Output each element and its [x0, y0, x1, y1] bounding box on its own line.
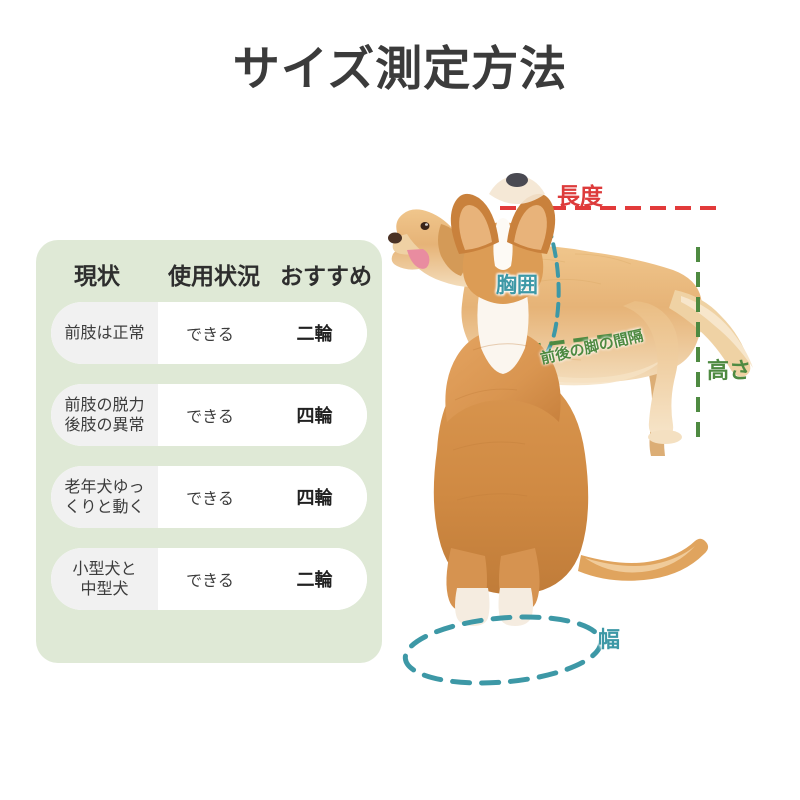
label-height: 高さ	[707, 361, 751, 383]
table-row: 前肢の脱力 後肢の異常 できる 四輪	[51, 384, 367, 446]
condition-line-1: 老年犬ゆっ	[64, 477, 144, 497]
cell-condition: 前肢の脱力 後肢の異常	[51, 384, 158, 446]
table-body: 前肢は正常 できる 二輪 前肢の脱力 後肢の異常 できる 四輪	[51, 302, 367, 630]
condition-line-1: 小型犬と	[72, 559, 136, 579]
cell-condition: 老年犬ゆっ くりと動く	[51, 466, 158, 528]
label-width: 幅	[598, 630, 620, 652]
table-row: 前肢は正常 できる 二輪	[51, 302, 367, 364]
cell-condition: 前肢は正常	[51, 302, 158, 364]
cell-usage: できる	[158, 466, 262, 528]
measurement-illustration	[385, 150, 800, 770]
cell-usage: できる	[158, 548, 262, 610]
label-length: 長度	[557, 186, 603, 209]
size-measurement-infographic: サイズ測定方法 現状 使用状況 おすすめ 前肢は正常 できる 二輪	[0, 0, 800, 800]
cell-recommend: 四輪	[262, 466, 367, 528]
condition-line-1: 前肢は正常	[64, 323, 144, 343]
table-row: 小型犬と 中型犬 できる 二輪	[51, 548, 367, 610]
recommendation-table: 現状 使用状況 おすすめ 前肢は正常 できる 二輪 前肢の脱力	[36, 240, 382, 663]
condition-line-2: 後肢の異常	[64, 415, 144, 435]
page-title: サイズ測定方法	[0, 44, 800, 96]
cell-recommend: 四輪	[262, 384, 367, 446]
table-row: 老年犬ゆっ くりと動く できる 四輪	[51, 466, 367, 528]
column-header-usage: 使用状況	[158, 266, 270, 289]
cell-condition: 小型犬と 中型犬	[51, 548, 158, 610]
condition-line-2: くりと動く	[64, 497, 144, 517]
table-header-row: 現状 使用状況 おすすめ	[36, 256, 382, 298]
condition-line-1: 前肢の脱力	[64, 395, 144, 415]
condition-line-2: 中型犬	[72, 579, 136, 599]
label-chest: 胸囲	[496, 275, 538, 296]
cell-recommend: 二輪	[262, 302, 367, 364]
column-header-condition: 現状	[36, 266, 158, 289]
cell-usage: できる	[158, 302, 262, 364]
cell-usage: できる	[158, 384, 262, 446]
column-header-recommend: おすすめ	[270, 266, 382, 289]
cell-recommend: 二輪	[262, 548, 367, 610]
